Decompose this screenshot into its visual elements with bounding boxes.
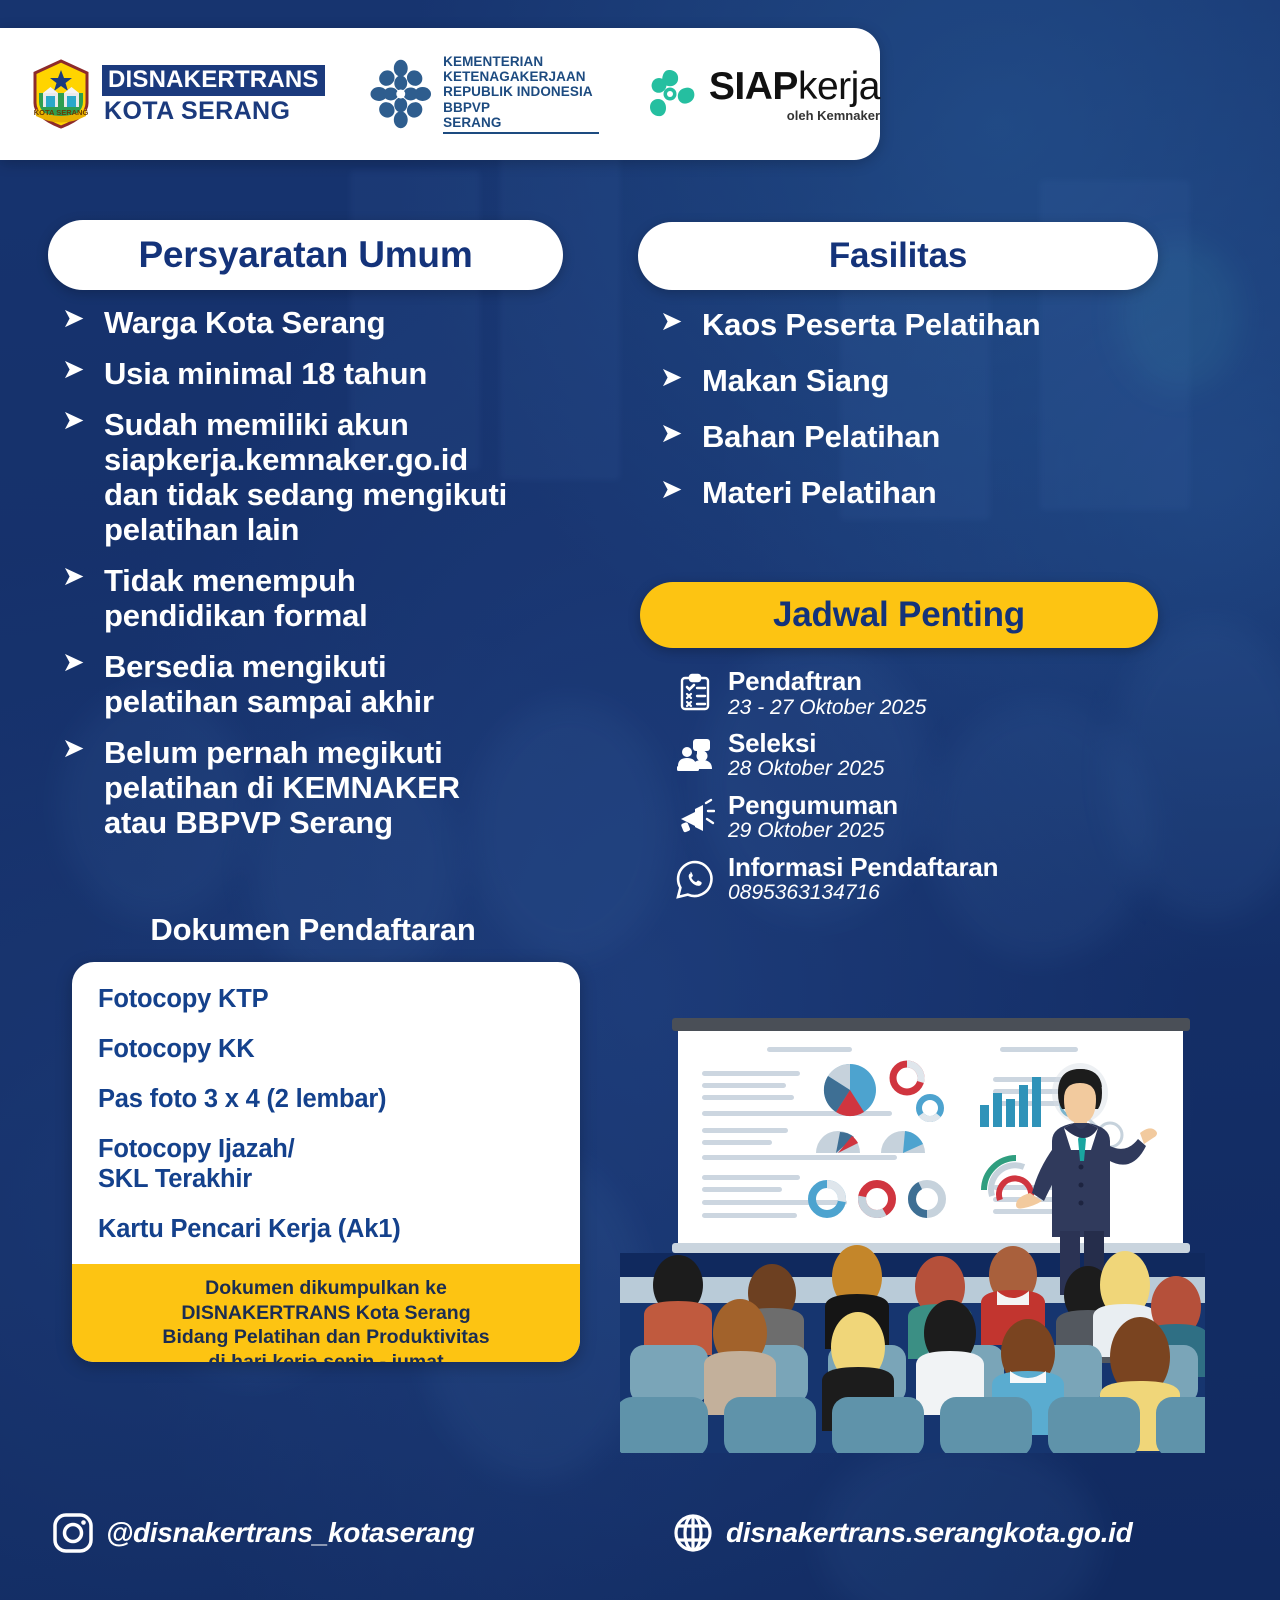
persyaratan-item: ➤Tidak menempuhpendidikan formal: [62, 563, 662, 633]
jadwal-row-title: Pendaftran: [728, 668, 926, 695]
persyaratan-item: ➤Usia minimal 18 tahun: [62, 356, 662, 391]
bullet-arrow-icon: ➤: [62, 563, 96, 591]
fasilitas-item: ➤Makan Siang: [660, 364, 1180, 398]
jadwal-row-title: Seleksi: [728, 730, 884, 757]
persyaratan-item-label: Belum pernah megikutipelatihan di KEMNAK…: [104, 735, 460, 840]
jadwal-row-detail: 28 Oktober 2025: [728, 758, 884, 779]
logo-siapkerja-tagline: oleh Kemnaker: [709, 109, 880, 122]
poster-canvas: KOTA SERANG DISNAKERTRANS KOTA SERANG: [0, 0, 1280, 1600]
fasilitas-heading-pill: Fasilitas: [638, 222, 1158, 290]
logo-siapkerja-light: kerja: [798, 65, 880, 108]
logo-kemnaker-line2: KETENAGAKERJAAN: [443, 69, 599, 84]
globe-icon: [672, 1512, 714, 1554]
logo-disnakertrans: KOTA SERANG DISNAKERTRANS KOTA SERANG: [30, 59, 325, 129]
jadwal-row-title: Pengumuman: [728, 792, 898, 819]
persyaratan-item: ➤Warga Kota Serang: [62, 305, 662, 340]
logo-kemnaker: KEMENTERIAN KETENAGAKERJAAN REPUBLIK IND…: [369, 54, 599, 135]
fasilitas-heading-text: Fasilitas: [829, 236, 967, 276]
jadwal-row: Informasi Pendaftaran0895363134716: [672, 854, 1172, 904]
logo-kemnaker-line3: REPUBLIK INDONESIA: [443, 84, 599, 99]
kota-serang-crest-icon: KOTA SERANG: [30, 59, 92, 129]
jadwal-row: Seleksi28 Oktober 2025: [672, 730, 1172, 780]
persyaratan-item-label: Sudah memiliki akunsiapkerja.kemnaker.go…: [104, 407, 507, 547]
dokumen-note: Dokumen dikumpulkan keDISNAKERTRANS Kota…: [72, 1264, 580, 1362]
dokumen-note-line: DISNAKERTRANS Kota Serang: [84, 1301, 568, 1325]
persyaratan-heading-pill: Persyaratan Umum: [48, 220, 563, 290]
interview-people-icon: [672, 732, 718, 778]
persyaratan-item: ➤Bersedia mengikutipelatihan sampai akhi…: [62, 649, 662, 719]
whatsapp-icon: [672, 856, 718, 902]
fasilitas-list: ➤Kaos Peserta Pelatihan➤Makan Siang➤Baha…: [660, 308, 1180, 532]
persyaratan-item-label: Usia minimal 18 tahun: [104, 356, 427, 391]
dokumen-note-line: Bidang Pelatihan dan Produktivitas: [84, 1325, 568, 1349]
logo-disnakertrans-line1: DISNAKERTRANS: [102, 65, 325, 96]
dokumen-item: Fotocopy KTP: [98, 984, 554, 1014]
persyaratan-item-label: Bersedia mengikutipelatihan sampai akhir: [104, 649, 434, 719]
jadwal-heading-pill: Jadwal Penting: [640, 582, 1158, 648]
dokumen-heading: Dokumen Pendaftaran: [48, 912, 578, 948]
fasilitas-item: ➤Materi Pelatihan: [660, 476, 1180, 510]
fasilitas-item-label: Makan Siang: [702, 364, 889, 398]
bullet-arrow-icon: ➤: [660, 420, 694, 448]
logo-disnakertrans-line2: KOTA SERANG: [102, 99, 325, 124]
fasilitas-item-label: Kaos Peserta Pelatihan: [702, 308, 1040, 342]
kemnaker-mark-icon: [369, 59, 433, 129]
fasilitas-item: ➤Kaos Peserta Pelatihan: [660, 308, 1180, 342]
jadwal-row: Pendaftran23 - 27 Oktober 2025: [672, 668, 1172, 718]
bullet-arrow-icon: ➤: [660, 308, 694, 336]
logo-siapkerja: SIAPkerja oleh Kemnaker: [643, 66, 880, 122]
instagram-icon: [52, 1512, 94, 1554]
logo-siapkerja-bold: SIAP: [709, 65, 798, 108]
footer-instagram[interactable]: @disnakertrans_kotaserang: [52, 1512, 474, 1554]
bullet-arrow-icon: ➤: [62, 407, 96, 435]
persyaratan-item: ➤Belum pernah megikutipelatihan di KEMNA…: [62, 735, 662, 840]
persyaratan-list: ➤Warga Kota Serang➤Usia minimal 18 tahun…: [62, 305, 662, 856]
persyaratan-heading-text: Persyaratan Umum: [138, 234, 472, 276]
megaphone-icon: [672, 794, 718, 840]
persyaratan-item: ➤Sudah memiliki akunsiapkerja.kemnaker.g…: [62, 407, 662, 547]
jadwal-row-detail: 29 Oktober 2025: [728, 820, 898, 841]
logo-kemnaker-line1: KEMENTERIAN: [443, 54, 599, 69]
header-logo-bar: KOTA SERANG DISNAKERTRANS KOTA SERANG: [0, 28, 880, 160]
footer-instagram-handle: @disnakertrans_kotaserang: [106, 1517, 474, 1549]
seminar-illustration: [620, 985, 1205, 1453]
dokumen-list: Fotocopy KTPFotocopy KKPas foto 3 x 4 (2…: [72, 962, 580, 1264]
bullet-arrow-icon: ➤: [62, 649, 96, 677]
jadwal-row-detail: 23 - 27 Oktober 2025: [728, 697, 926, 718]
dokumen-note-line: di hari kerja senin - jumat: [84, 1350, 568, 1362]
fasilitas-item-label: Materi Pelatihan: [702, 476, 937, 510]
jadwal-rows: Pendaftran23 - 27 Oktober 2025Seleksi28 …: [672, 668, 1172, 916]
jadwal-row-title: Informasi Pendaftaran: [728, 854, 998, 881]
jadwal-heading-text: Jadwal Penting: [773, 595, 1025, 635]
bullet-arrow-icon: ➤: [62, 356, 96, 384]
footer-website[interactable]: disnakertrans.serangkota.go.id: [672, 1512, 1132, 1554]
bullet-arrow-icon: ➤: [62, 735, 96, 763]
jadwal-row-detail: 0895363134716: [728, 882, 998, 903]
persyaratan-item-label: Tidak menempuhpendidikan formal: [104, 563, 368, 633]
fasilitas-item: ➤Bahan Pelatihan: [660, 420, 1180, 454]
dokumen-item: Pas foto 3 x 4 (2 lembar): [98, 1084, 554, 1114]
dokumen-item: Kartu Pencari Kerja (Ak1): [98, 1214, 554, 1244]
dokumen-note-line: Dokumen dikumpulkan ke: [84, 1276, 568, 1300]
footer-website-url: disnakertrans.serangkota.go.id: [726, 1517, 1132, 1549]
bullet-arrow-icon: ➤: [660, 364, 694, 392]
svg-text:KOTA SERANG: KOTA SERANG: [34, 108, 89, 117]
clipboard-checklist-icon: [672, 670, 718, 716]
dokumen-card: Fotocopy KTPFotocopy KKPas foto 3 x 4 (2…: [72, 962, 580, 1362]
jadwal-row: Pengumuman29 Oktober 2025: [672, 792, 1172, 842]
logo-kemnaker-line4: BBPVP SERANG: [443, 100, 599, 135]
bullet-arrow-icon: ➤: [660, 476, 694, 504]
dokumen-item: Fotocopy KK: [98, 1034, 554, 1064]
dokumen-item: Fotocopy Ijazah/SKL Terakhir: [98, 1134, 554, 1194]
fasilitas-item-label: Bahan Pelatihan: [702, 420, 940, 454]
bullet-arrow-icon: ➤: [62, 305, 96, 333]
persyaratan-item-label: Warga Kota Serang: [104, 305, 385, 340]
siapkerja-mark-icon: [643, 66, 699, 122]
